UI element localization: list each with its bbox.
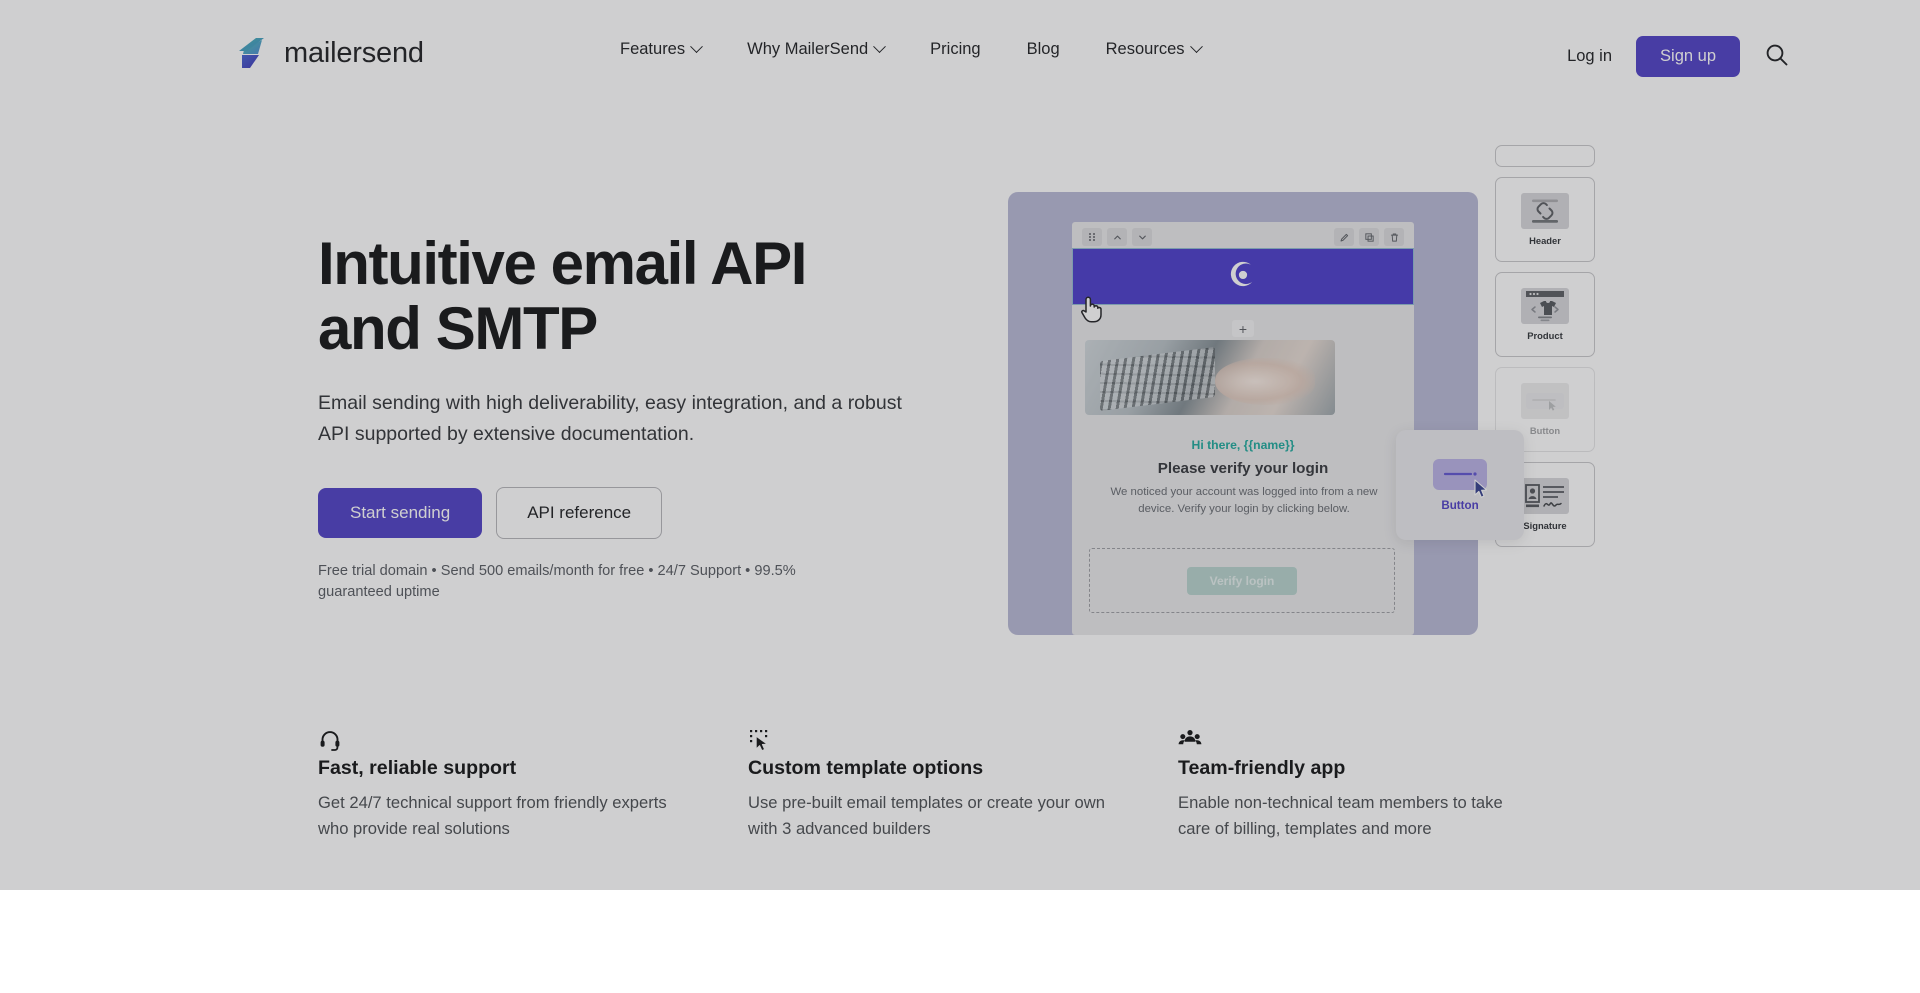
chevron-down-icon: [1190, 40, 1203, 53]
cookie-consent-banner: [0, 890, 1920, 993]
feature-row: Fast, reliable support Get 24/7 technica…: [318, 728, 1608, 841]
feature-fast-reliable-support: Fast, reliable support Get 24/7 technica…: [318, 728, 748, 841]
block-label: Button: [1530, 425, 1560, 436]
feature-description: Use pre-built email templates or create …: [748, 790, 1108, 841]
email-header-block[interactable]: [1072, 248, 1414, 305]
block-dropzone[interactable]: Verify login: [1089, 548, 1395, 613]
site-header: mailersend Features Why MailerSend Prici…: [0, 0, 1920, 92]
block-label: Product: [1527, 330, 1562, 341]
nav-item-why-mailersend[interactable]: Why MailerSend: [747, 40, 884, 59]
hero-note: Free trial domain • Send 500 emails/mont…: [318, 561, 858, 604]
feature-description: Enable non-technical team members to tak…: [1178, 790, 1538, 841]
drag-select-cursor-icon: [748, 739, 772, 756]
nav-label: Why MailerSend: [747, 40, 868, 59]
chevron-up-icon[interactable]: [1107, 228, 1127, 246]
nav-label: Resources: [1106, 40, 1185, 59]
button-icon: [1521, 383, 1569, 419]
hero-section: Intuitive email API and SMTP Email sendi…: [318, 232, 938, 604]
feature-title: Team-friendly app: [1178, 757, 1608, 780]
link-icon: [1521, 193, 1569, 229]
drag-ghost-card[interactable]: Button: [1396, 430, 1524, 540]
chevron-down-icon: [690, 40, 703, 53]
block-toolbar: [1082, 228, 1404, 246]
block-card-product[interactable]: Product: [1495, 272, 1595, 357]
brand-name: mailersend: [284, 37, 424, 70]
headset-icon: [318, 739, 342, 756]
block-label: Signature: [1523, 520, 1566, 531]
block-card-header[interactable]: Header: [1495, 177, 1595, 262]
nav-label: Pricing: [930, 40, 980, 59]
email-greeting: Hi there, {{name}}: [1072, 438, 1414, 452]
feature-team-friendly-app: Team-friendly app Enable non-technical t…: [1178, 728, 1608, 841]
start-sending-button[interactable]: Start sending: [318, 488, 482, 538]
search-icon[interactable]: [1764, 42, 1790, 68]
people-group-icon: [1178, 739, 1202, 756]
chevron-down-icon[interactable]: [1132, 228, 1152, 246]
main-nav: Features Why MailerSend Pricing Blog Res…: [620, 36, 1201, 62]
block-toolbar-left: [1082, 228, 1152, 246]
feature-title: Fast, reliable support: [318, 757, 748, 780]
email-hero-image: [1085, 340, 1335, 415]
api-reference-button[interactable]: API reference: [496, 487, 662, 539]
laptop-keyboard-detail: [1100, 346, 1215, 410]
block-toolbar-right: [1334, 228, 1404, 246]
trash-icon[interactable]: [1384, 228, 1404, 246]
nav-label: Blog: [1027, 40, 1060, 59]
hero-title: Intuitive email API and SMTP: [318, 232, 938, 362]
button-icon: [1433, 459, 1487, 490]
brand-logo[interactable]: mailersend: [236, 36, 424, 70]
email-body-text: We noticed your account was logged into …: [1096, 484, 1392, 518]
mailersend-logo-icon: [236, 36, 270, 70]
copy-icon[interactable]: [1359, 228, 1379, 246]
mailersend-circle-logo-icon: [1229, 260, 1257, 293]
drag-ghost-label: Button: [1441, 499, 1478, 512]
hero-cta-group: Start sending API reference: [318, 487, 938, 539]
add-block-button[interactable]: +: [1232, 320, 1254, 337]
email-cta-button[interactable]: Verify login: [1187, 567, 1297, 595]
hands-detail: [1215, 358, 1315, 405]
nav-item-resources[interactable]: Resources: [1106, 40, 1201, 59]
drag-handle-icon[interactable]: [1082, 228, 1102, 246]
signup-button[interactable]: Sign up: [1636, 36, 1740, 77]
hero-subtitle: Email sending with high deliverability, …: [318, 388, 908, 451]
signature-card-icon: [1521, 478, 1569, 514]
hand-pointer-cursor-icon: [1078, 290, 1104, 324]
block-label: Header: [1529, 235, 1561, 246]
tshirt-window-icon: [1521, 288, 1569, 324]
feature-title: Custom template options: [748, 757, 1178, 780]
nav-item-features[interactable]: Features: [620, 40, 701, 59]
chevron-down-icon: [873, 40, 886, 53]
nav-item-blog[interactable]: Blog: [1027, 40, 1060, 59]
nav-item-pricing[interactable]: Pricing: [930, 40, 980, 59]
arrow-cursor-icon: [1473, 479, 1489, 499]
page-content: mailersend Features Why MailerSend Prici…: [0, 0, 1920, 993]
pencil-icon[interactable]: [1334, 228, 1354, 246]
feature-description: Get 24/7 technical support from friendly…: [318, 790, 678, 841]
email-title: Please verify your login: [1072, 460, 1414, 477]
header-actions: Log in Sign up: [1567, 36, 1740, 77]
nav-label: Features: [620, 40, 685, 59]
feature-custom-template-options: Custom template options Use pre-built em…: [748, 728, 1178, 841]
login-link[interactable]: Log in: [1567, 47, 1612, 66]
page-root: mailersend Features Why MailerSend Prici…: [0, 0, 1920, 993]
block-card-partial-top[interactable]: [1495, 145, 1595, 167]
